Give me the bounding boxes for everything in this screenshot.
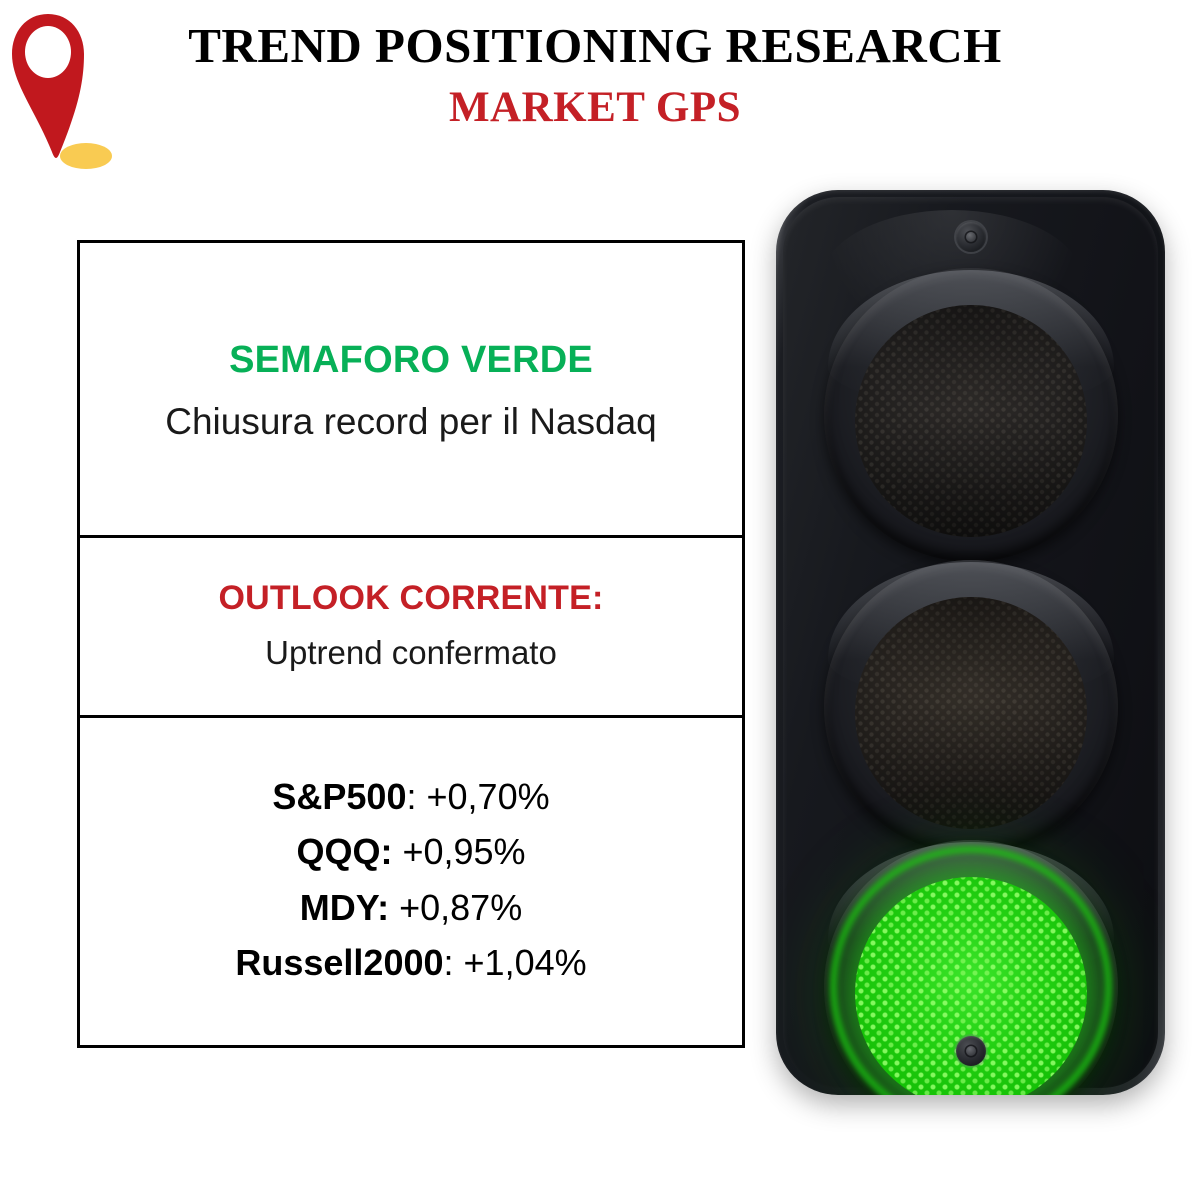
amber-lamp — [815, 557, 1127, 857]
amber-led-matrix-icon — [855, 597, 1087, 829]
ticker-name: Russell2000 — [235, 942, 443, 983]
amber-lens-shade — [855, 597, 1087, 829]
red-lamp — [815, 265, 1127, 565]
ticker-value: +0,87% — [399, 887, 522, 928]
amber-lamp-lens — [855, 597, 1087, 829]
ticker-name: S&P500 — [272, 776, 406, 817]
ticker-name: MDY: — [300, 887, 389, 928]
ticker-separator: : — [406, 776, 426, 817]
screw-bottom-icon — [956, 1036, 986, 1066]
info-panel: SEMAFORO VERDE Chiusura record per il Na… — [77, 240, 745, 1048]
traffic-light — [776, 190, 1165, 1095]
outlook-detail: Uptrend confermato — [265, 632, 557, 673]
signal-headline: SEMAFORO VERDE — [229, 339, 593, 383]
ticker-name: QQQ: — [296, 831, 392, 872]
ticker-value: +0,95% — [402, 831, 525, 872]
ticker-value: +1,04% — [464, 942, 587, 983]
market-gps-card: TREND POSITIONING RESEARCH MARKET GPS SE… — [0, 0, 1200, 1200]
traffic-light-body — [783, 197, 1158, 1088]
red-led-matrix-icon — [855, 305, 1087, 537]
ticker-separator — [389, 887, 399, 928]
title-block: TREND POSITIONING RESEARCH MARKET GPS — [150, 18, 1040, 136]
outlook-section: OUTLOOK CORRENTE: Uptrend confermato — [80, 538, 742, 718]
ticker-row: Russell2000: +1,04% — [235, 935, 586, 990]
ticker-row: QQQ: +0,95% — [296, 824, 525, 879]
ticker-separator — [392, 831, 402, 872]
page-subtitle: MARKET GPS — [150, 80, 1040, 136]
ticker-row: S&P500: +0,70% — [272, 769, 549, 824]
ticker-separator: : — [444, 942, 464, 983]
red-lamp-lens — [855, 305, 1087, 537]
page-title: TREND POSITIONING RESEARCH — [150, 18, 1040, 74]
outlook-headline: OUTLOOK CORRENTE: — [219, 579, 604, 618]
signal-section: SEMAFORO VERDE Chiusura record per il Na… — [80, 243, 742, 538]
screw-top-icon — [956, 222, 986, 252]
red-lens-shade — [855, 305, 1087, 537]
ticker-value: +0,70% — [427, 776, 550, 817]
map-pin-icon — [8, 10, 138, 170]
ticker-row: MDY: +0,87% — [300, 880, 522, 935]
tickers-section: S&P500: +0,70% QQQ: +0,95% MDY: +0,87% R… — [80, 718, 742, 1045]
signal-detail: Chiusura record per il Nasdaq — [165, 399, 657, 445]
header: TREND POSITIONING RESEARCH MARKET GPS — [0, 0, 1200, 180]
